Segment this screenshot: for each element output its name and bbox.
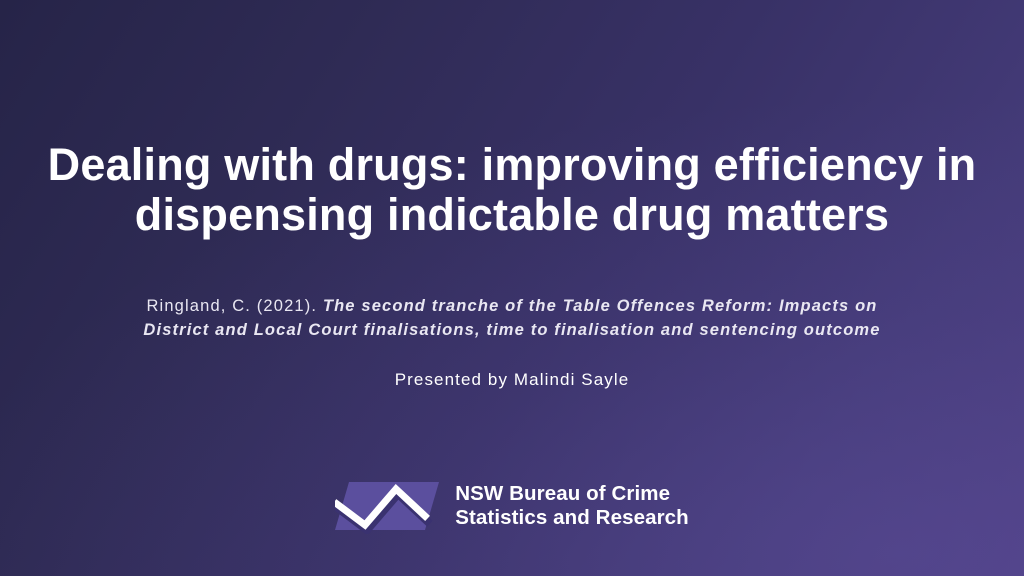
title-line-2: dispensing indictable drug matters — [0, 190, 1024, 240]
logo-wordmark: NSW Bureau of Crime Statistics and Resea… — [455, 482, 689, 530]
organisation-logo: NSW Bureau of Crime Statistics and Resea… — [0, 478, 1024, 534]
citation-author-year: Ringland, C. (2021). — [146, 297, 317, 315]
citation-work-title-part1: The second tranche of the Table Offences… — [317, 297, 877, 315]
citation-line-1: Ringland, C. (2021). The second tranche … — [0, 294, 1024, 318]
logo-wordmark-line-1: NSW Bureau of Crime — [455, 482, 689, 506]
title-line-1: Dealing with drugs: improving efficiency… — [0, 140, 1024, 190]
presenter-name-text: Presented by Malindi Sayle — [395, 369, 630, 391]
logo-wordmark-line-2: Statistics and Research — [455, 506, 689, 530]
citation-work-title-part2: District and Local Court finalisations, … — [0, 318, 1024, 342]
title-slide: Dealing with drugs: improving efficiency… — [0, 0, 1024, 576]
nsw-bocsar-chevron-logo-icon — [335, 478, 439, 534]
slide-content-layer: Dealing with drugs: improving efficiency… — [0, 0, 1024, 576]
presenter-credit: Presented by Malindi Sayle — [0, 369, 1024, 391]
page-title: Dealing with drugs: improving efficiency… — [0, 140, 1024, 240]
citation: Ringland, C. (2021). The second tranche … — [0, 294, 1024, 342]
